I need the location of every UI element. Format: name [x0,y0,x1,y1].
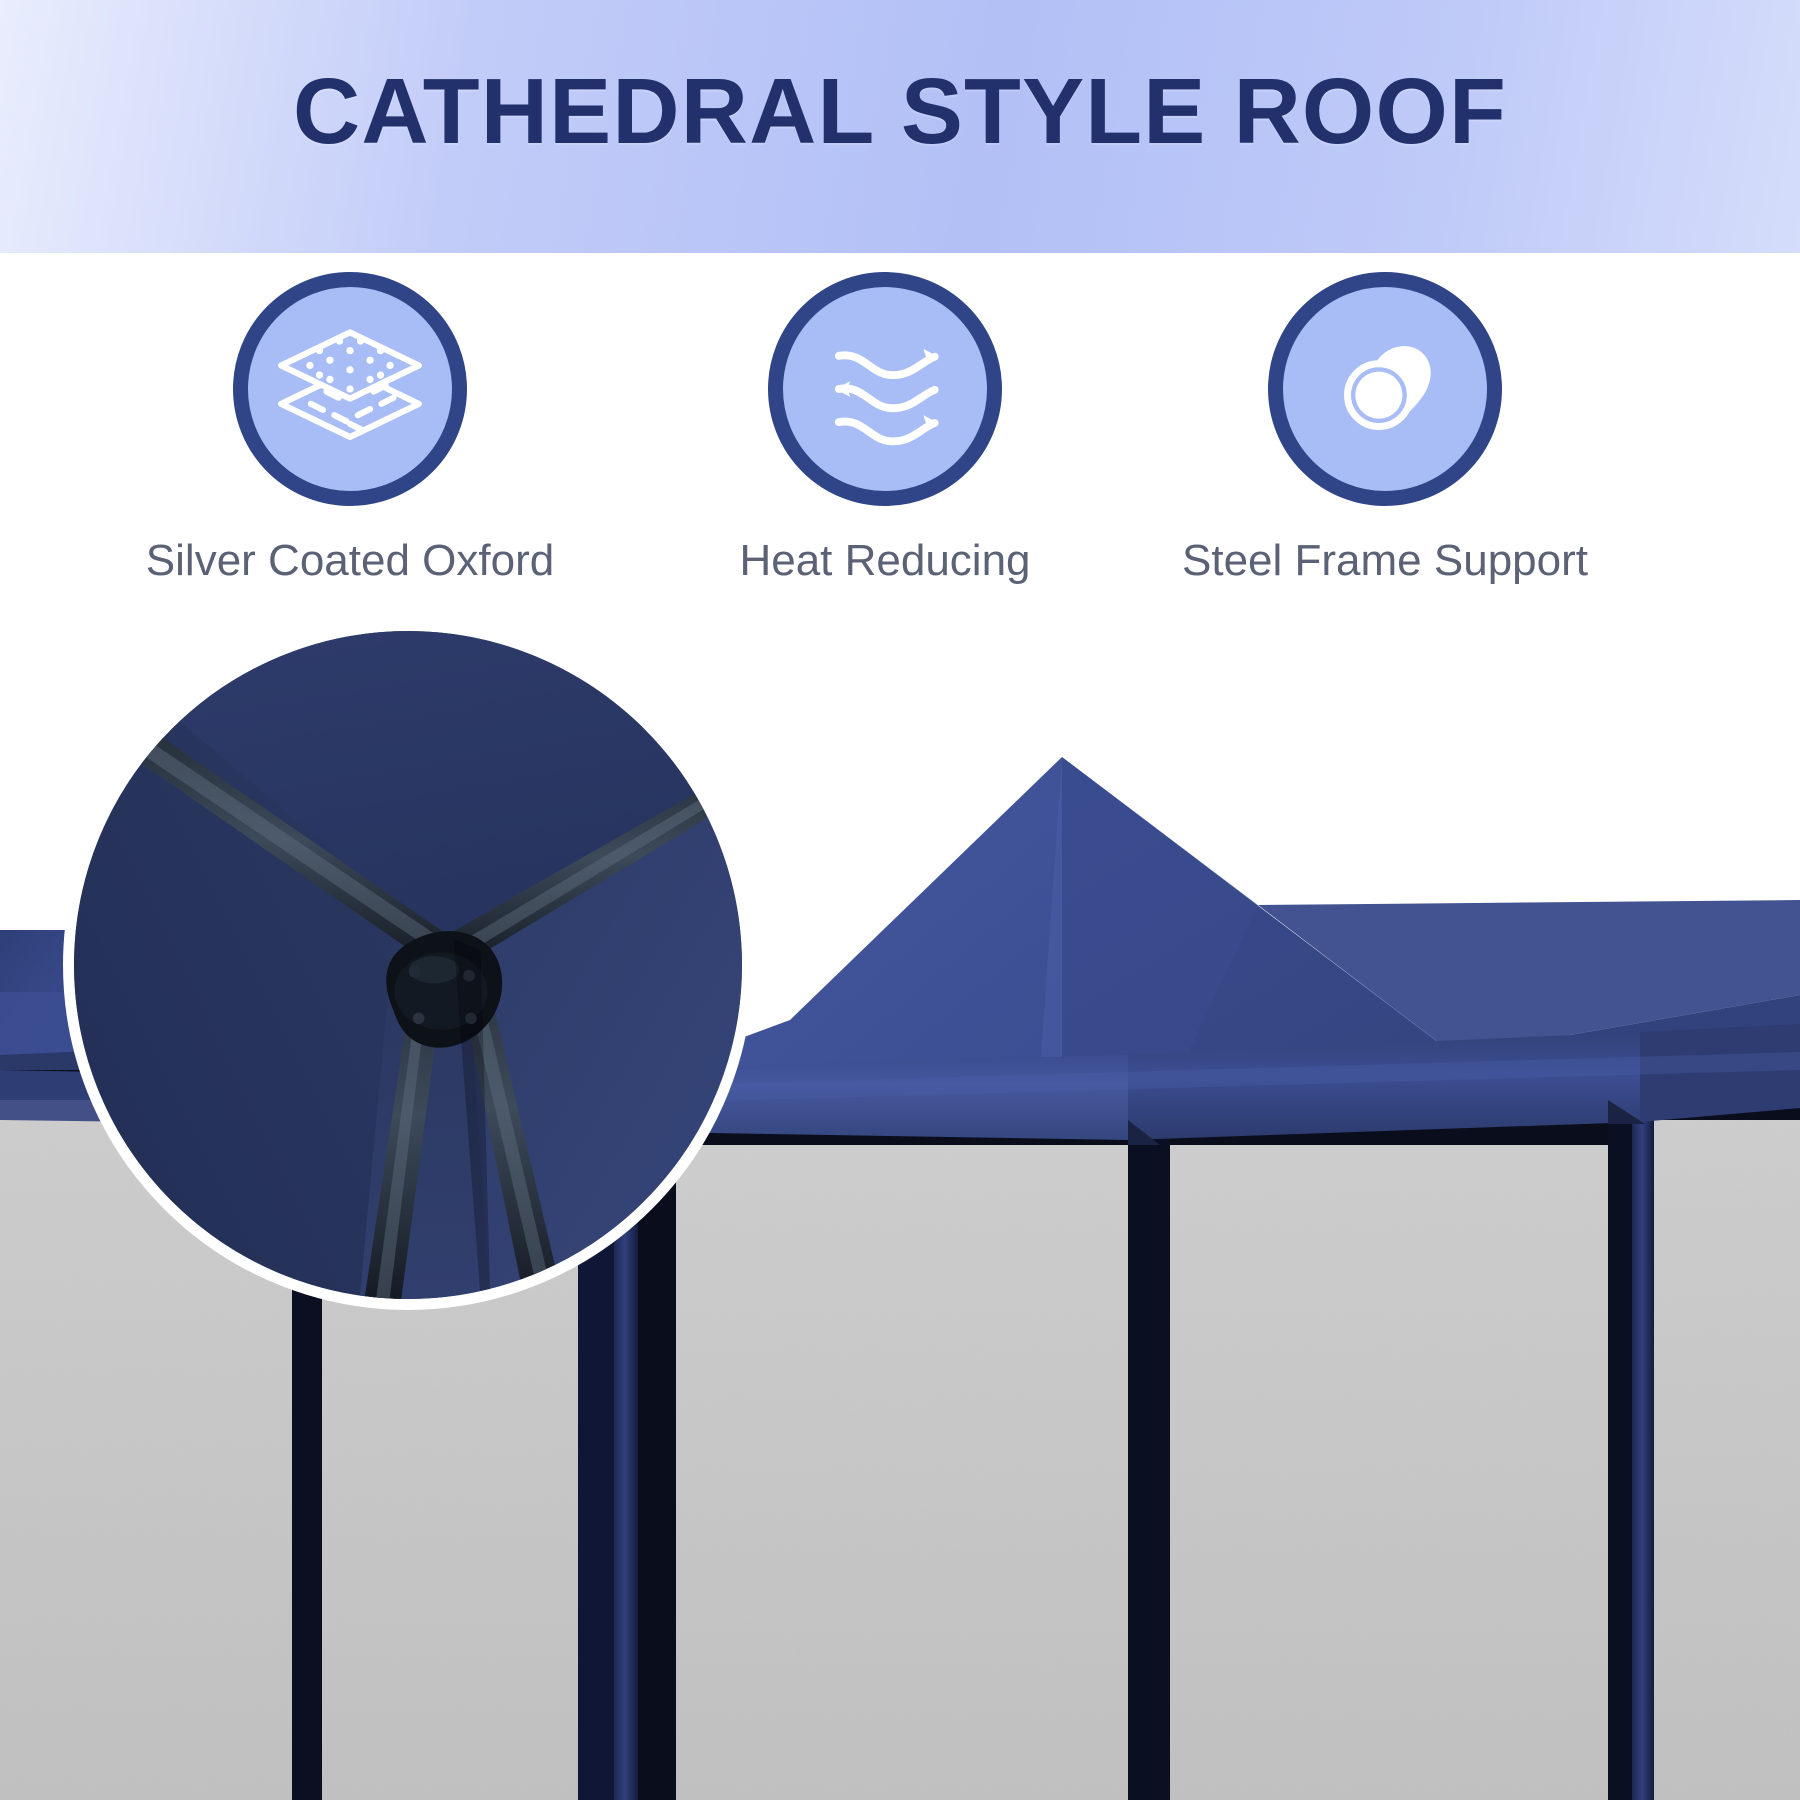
feature-steel-frame-support: Steel Frame Support [1150,272,1620,587]
feature-label: Steel Frame Support [1150,536,1620,587]
page-title: CATHEDRAL STYLE ROOF [0,63,1800,161]
feature-label: Silver Coated Oxford [115,536,585,587]
feature-silver-coated-oxford: Silver Coated Oxford [115,272,585,587]
feature-icon-circle [768,272,1002,506]
feature-heat-reducing: Heat Reducing [650,272,1120,587]
feature-row: Silver Coated Oxford [0,272,1800,592]
feature-icon-circle [233,272,467,506]
feature-icon-circle [1268,272,1502,506]
infographic-page: CATHEDRAL STYLE ROOF [0,0,1800,1800]
feature-label: Heat Reducing [650,536,1120,587]
roof-detail-magnifier [63,620,753,1310]
header-band: CATHEDRAL STYLE ROOF [0,0,1800,253]
